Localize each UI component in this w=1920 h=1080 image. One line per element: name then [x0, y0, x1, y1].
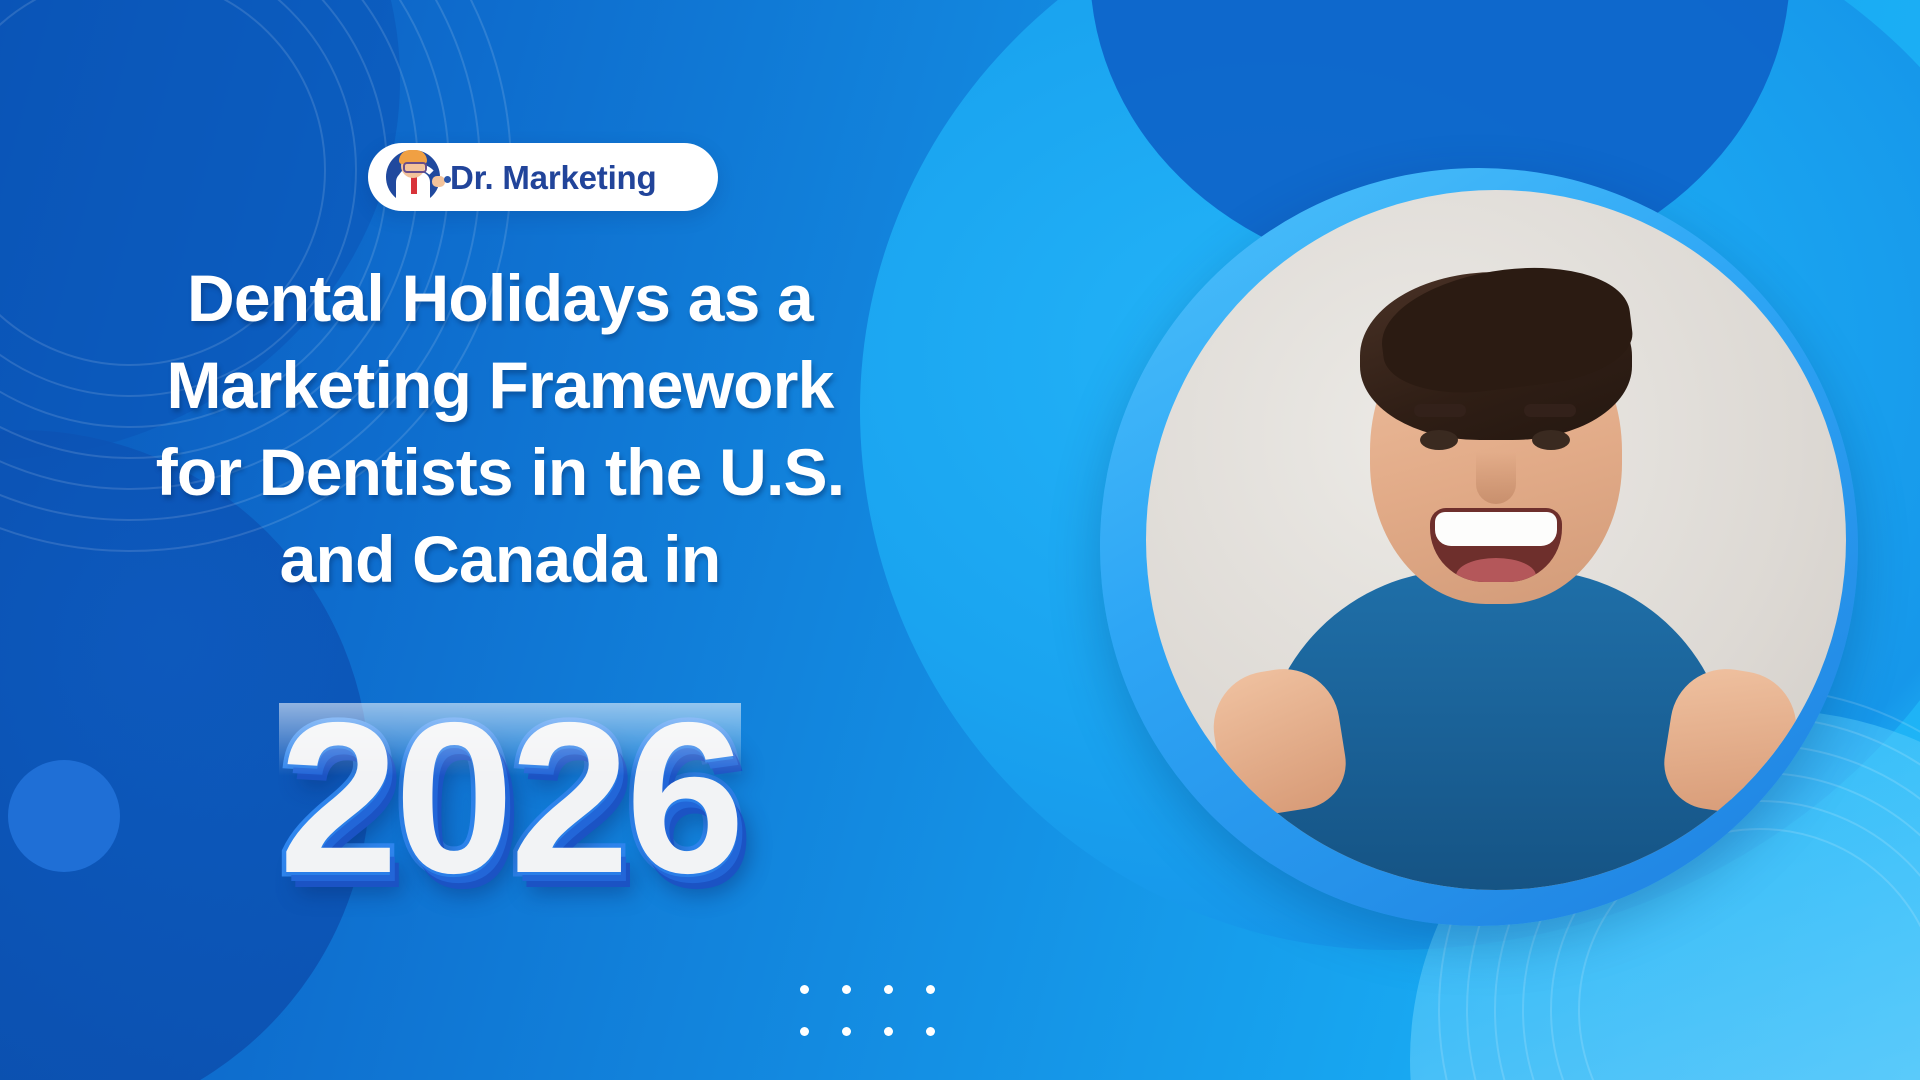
promotional-banner: Dr. Marketing Dental Holidays as a Marke… — [0, 0, 1920, 1080]
portrait-ring — [1100, 168, 1858, 926]
headline-line-3: for Dentists in the U.S. — [0, 429, 1000, 516]
brand-logo-badge[interactable]: Dr. Marketing — [368, 143, 718, 211]
brand-logo-text: Dr. Marketing — [450, 161, 656, 194]
grid-dot — [800, 1027, 809, 1036]
headline-line-4: and Canada in — [0, 516, 1000, 603]
year-block: 2026 — [0, 690, 1020, 920]
dot-grid-decor — [800, 985, 968, 1069]
accent-dot-decor — [8, 760, 120, 872]
grid-dot — [926, 985, 935, 994]
grid-dot — [926, 1027, 935, 1036]
year-3d-text: 2026 — [279, 690, 741, 905]
doctor-avatar-icon — [382, 146, 444, 208]
headline-line-1: Dental Holidays as a — [0, 255, 1000, 342]
portrait-photo — [1146, 190, 1846, 890]
grid-dot — [842, 1027, 851, 1036]
grid-dot — [884, 1027, 893, 1036]
headline-block: Dental Holidays as a Marketing Framework… — [0, 255, 1000, 603]
grid-dot — [842, 985, 851, 994]
grid-dot — [800, 985, 809, 994]
grid-dot — [884, 985, 893, 994]
headline-line-2: Marketing Framework — [0, 342, 1000, 429]
